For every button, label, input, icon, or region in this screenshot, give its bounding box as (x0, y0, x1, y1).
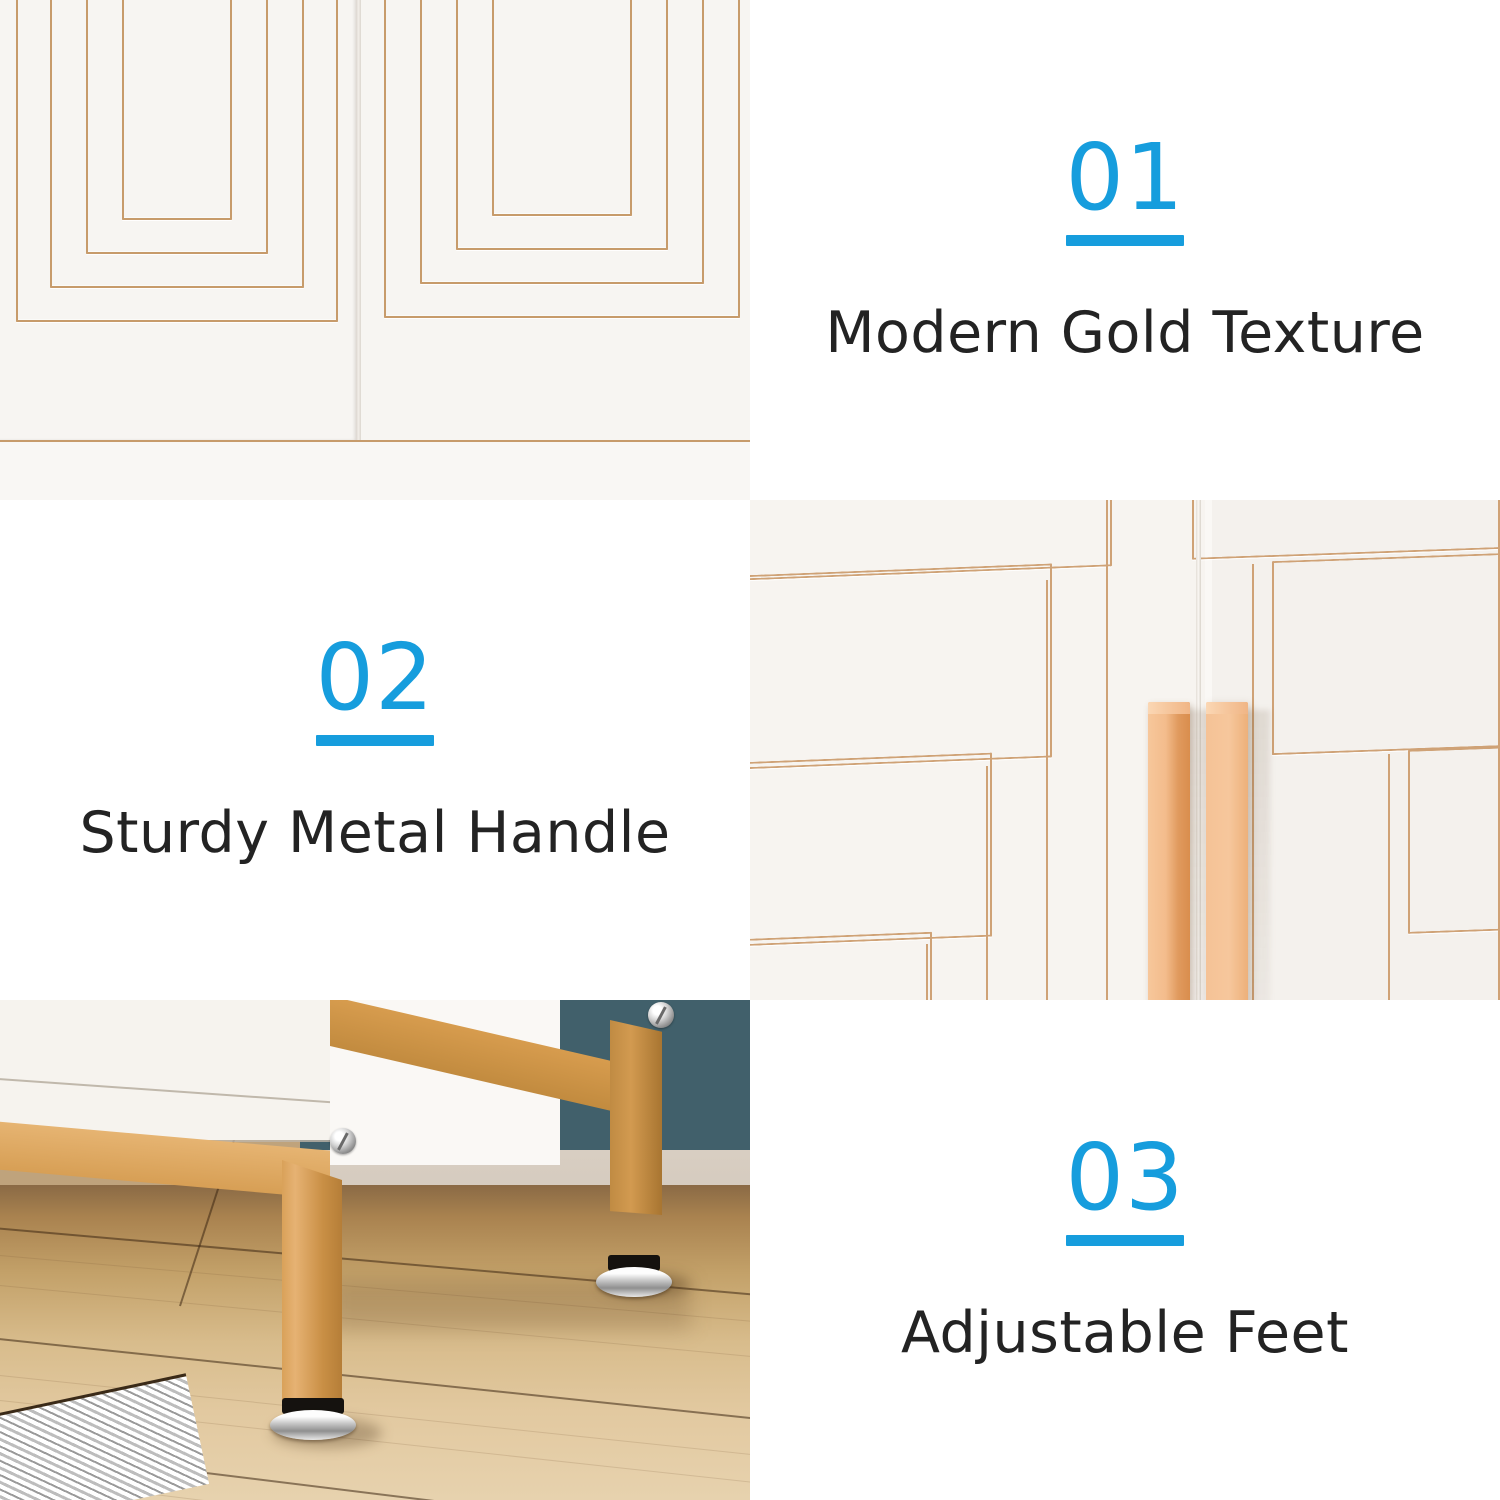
number-underline-01 (1066, 235, 1184, 246)
handle-bar-left-top (1148, 702, 1190, 714)
number-underline-03 (1066, 1235, 1184, 1246)
photo-metal-handle (750, 500, 1500, 1000)
door-seam (356, 0, 361, 500)
handle-bar-left[interactable] (1148, 702, 1190, 1000)
photo-adjustable-feet (0, 1000, 750, 1500)
callout-01: 01 Modern Gold Texture (750, 0, 1500, 500)
feature-number-badge-02: 02 (315, 634, 434, 746)
adjustable-foot-front (282, 1398, 344, 1450)
adjustable-foot-back (608, 1255, 660, 1301)
cabinet-leg-back (610, 1020, 662, 1215)
handle-door-left (750, 500, 1205, 1000)
area-rug (0, 1373, 209, 1500)
foot-pad-front (270, 1410, 356, 1440)
callout-03: 03 Adjustable Feet (750, 1000, 1500, 1500)
feature-title-02: Sturdy Metal Handle (79, 800, 670, 866)
cabinet-door-right (360, 0, 750, 440)
feature-number-02: 02 (315, 634, 434, 721)
leg-screw-back (648, 1002, 674, 1028)
handle-bar-right[interactable] (1206, 702, 1248, 1000)
foot-pad-back (596, 1267, 672, 1297)
feature-infographic: 01 Modern Gold Texture 02 Sturdy Metal H… (0, 0, 1500, 1500)
number-underline-02 (316, 735, 434, 746)
cabinet-leg-front (282, 1160, 342, 1410)
photo-gold-texture (0, 0, 750, 500)
cabinet-door-left (0, 0, 356, 440)
feature-title-01: Modern Gold Texture (825, 300, 1424, 366)
feature-number-badge-03: 03 (1065, 1134, 1184, 1246)
leg-screw-front (330, 1128, 356, 1154)
handle-closeup-image (750, 500, 1500, 1000)
cabinet-body-left (0, 1000, 360, 1140)
feature-title-03: Adjustable Feet (901, 1300, 1349, 1366)
feature-number-badge-01: 01 (1065, 134, 1184, 246)
feature-number-03: 03 (1065, 1134, 1184, 1221)
feature-number-01: 01 (1065, 134, 1184, 221)
cabinet-leg-image (0, 1000, 750, 1500)
callout-02: 02 Sturdy Metal Handle (0, 500, 750, 1000)
handle-bar-right-top (1206, 702, 1248, 714)
cabinet-base-rail (0, 440, 750, 500)
cabinet-door-image (0, 0, 750, 500)
wood-floor (0, 1185, 750, 1500)
